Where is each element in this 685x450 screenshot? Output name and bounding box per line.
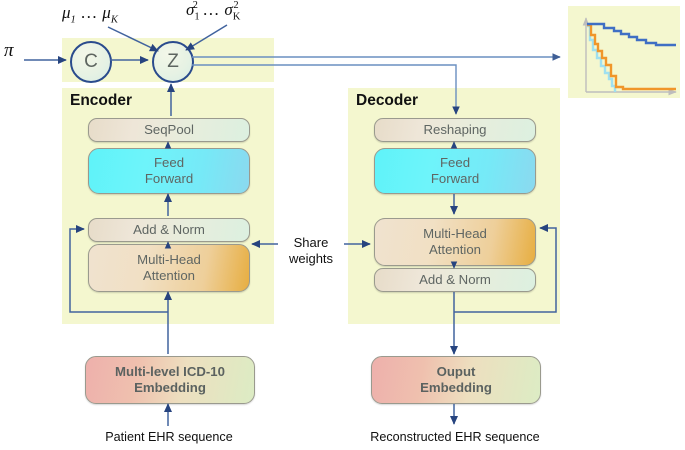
encoder-block-feed-forward: Feed Forward: [88, 148, 250, 194]
decoder-embedding-label-line2: Embedding: [420, 380, 492, 395]
latent-node-label: Z: [167, 51, 179, 73]
cluster-node-label: C: [84, 51, 98, 73]
prior-pi-label: π: [4, 40, 14, 62]
sigma-parameters-label: σ12 … σK2: [186, 0, 239, 22]
cluster-node-c: C: [70, 41, 112, 83]
encoder-block-seqpool: SeqPool: [88, 118, 250, 142]
encoder-mha-label-line1: Multi-Head: [137, 252, 201, 267]
decoder-block-add-norm: Add & Norm: [374, 268, 536, 292]
encoder-seqpool-label: SeqPool: [144, 122, 194, 138]
share-weights-line2: weights: [289, 251, 333, 266]
encoder-title: Encoder: [70, 92, 132, 110]
decoder-reshaping-label: Reshaping: [423, 122, 486, 138]
decoder-addnorm-label: Add & Norm: [419, 272, 491, 288]
encoder-input-caption: Patient EHR sequence: [85, 430, 253, 444]
encoder-feedforward-label-line1: Feed: [154, 155, 184, 170]
encoder-input-embedding-block: Multi-level ICD-10 Embedding: [85, 356, 255, 404]
encoder-addnorm-label: Add & Norm: [133, 222, 205, 238]
decoder-block-multi-head-attention: Multi-Head Attention: [374, 218, 536, 266]
decoder-output-embedding-block: Ouput Embedding: [371, 356, 541, 404]
encoder-block-multi-head-attention: Multi-Head Attention: [88, 244, 250, 292]
encoder-embedding-label-line2: Embedding: [134, 380, 206, 395]
decoder-embedding-label-line1: Ouput: [437, 364, 476, 379]
diagram-canvas: π C Z μ1 … μK σ12 … σK2 Encoder SeqPool …: [0, 0, 685, 450]
decoder-output-caption: Reconstructed EHR sequence: [355, 430, 555, 444]
decoder-mha-label-line2: Attention: [429, 242, 481, 257]
decoder-block-feed-forward: Feed Forward: [374, 148, 536, 194]
decoder-feedforward-label-line2: Forward: [431, 171, 479, 186]
encoder-block-add-norm: Add & Norm: [88, 218, 250, 242]
mu-parameters-label: μ1 … μK: [62, 3, 118, 25]
decoder-feedforward-label-line1: Feed: [440, 155, 470, 170]
share-weights-line1: Share: [294, 235, 329, 250]
encoder-mha-label-line2: Attention: [143, 268, 195, 283]
decoder-block-reshaping: Reshaping: [374, 118, 536, 142]
latent-node-z: Z: [152, 41, 194, 83]
decoder-title: Decoder: [356, 92, 418, 110]
survival-chart-panel: [568, 6, 680, 98]
encoder-embedding-label-line1: Multi-level ICD-10: [115, 364, 225, 379]
encoder-feedforward-label-line2: Forward: [145, 171, 193, 186]
share-weights-label: Share weights: [281, 235, 341, 266]
decoder-mha-label-line1: Multi-Head: [423, 226, 487, 241]
